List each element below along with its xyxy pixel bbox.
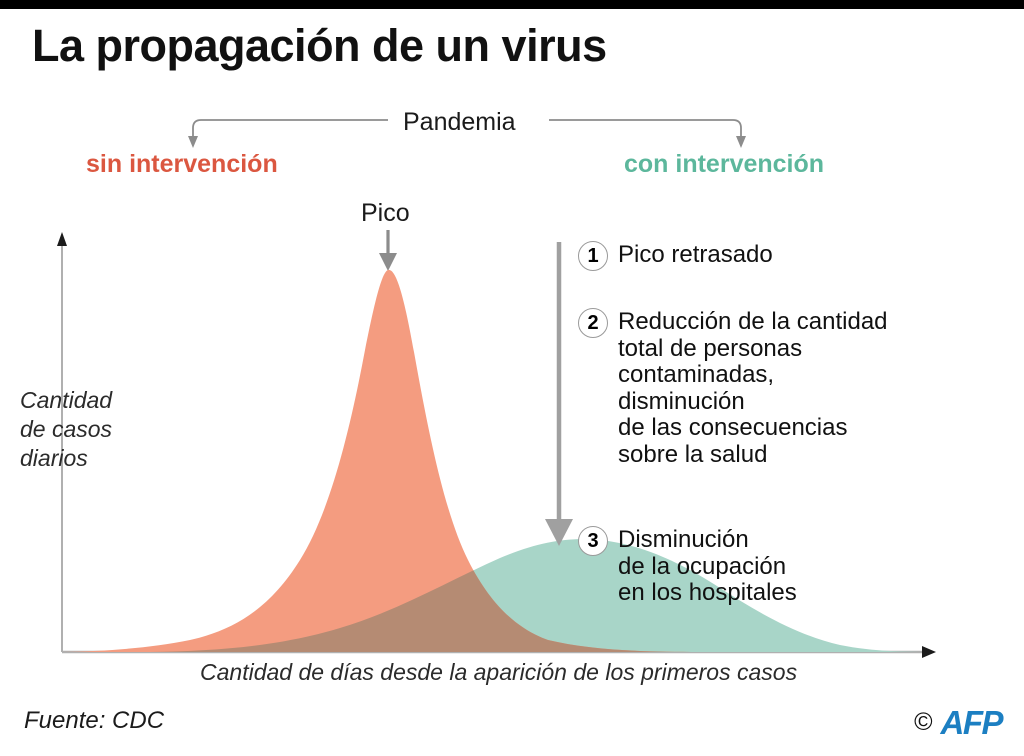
delay-arrow bbox=[545, 242, 573, 546]
annotation-badge-2: 2 bbox=[578, 308, 608, 338]
top-black-bar bbox=[0, 0, 1024, 9]
x-axis-label: Cantidad de días desde la aparición de l… bbox=[200, 659, 797, 686]
pico-arrow bbox=[379, 230, 397, 271]
bracket-label: Pandemia bbox=[396, 108, 523, 137]
curve-con-intervencion bbox=[150, 539, 930, 652]
bracket-arrow-right bbox=[736, 136, 746, 148]
afp-logo: AFP bbox=[941, 706, 1003, 739]
annotation-item-1: 1 Pico retrasado bbox=[578, 241, 773, 271]
x-axis bbox=[62, 646, 936, 658]
curve-overlap-region bbox=[150, 539, 930, 652]
annotation-badge-3: 3 bbox=[578, 526, 608, 556]
legend-label-sin-intervencion: sin intervención bbox=[86, 150, 278, 179]
y-axis-label: Cantidad de casos diarios bbox=[20, 386, 112, 473]
annotation-text-3: Disminución de la ocupación en los hospi… bbox=[618, 526, 797, 607]
afp-credit: © AFP bbox=[914, 706, 1002, 739]
infographic-page: La propagación de un virus bbox=[0, 0, 1024, 756]
copyright-icon: © bbox=[914, 710, 932, 735]
legend-label-con-intervencion: con intervención bbox=[624, 150, 824, 179]
annotation-item-3: 3 Disminución de la ocupación en los hos… bbox=[578, 526, 797, 607]
annotation-text-2: Reducción de la cantidad total de person… bbox=[618, 308, 888, 468]
page-title: La propagación de un virus bbox=[32, 20, 607, 72]
annotation-text-1: Pico retrasado bbox=[618, 241, 773, 269]
annotation-badge-1: 1 bbox=[578, 241, 608, 271]
source-label: Fuente: CDC bbox=[24, 707, 164, 735]
annotation-item-2: 2 Reducción de la cantidad total de pers… bbox=[578, 308, 888, 468]
peak-label: Pico bbox=[361, 199, 410, 228]
bracket-arrow-left bbox=[188, 136, 198, 148]
